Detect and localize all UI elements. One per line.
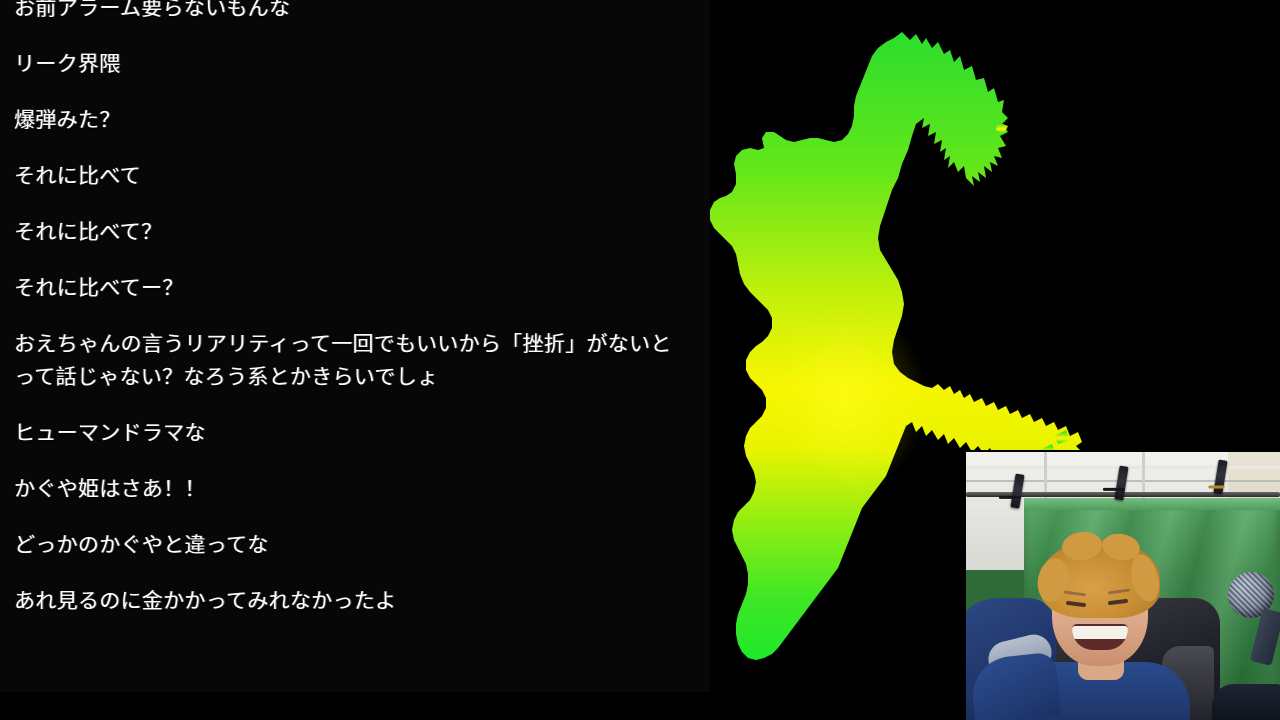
curtain-top-edge [1024,498,1280,510]
chat-panel[interactable]: お前アラーム要らないもんな リーク界隈 爆弾みた？ それに比べて それに比べて？… [0,0,710,692]
chat-message: それに比べてー？ [0,272,710,305]
stream-canvas: お前アラーム要らないもんな リーク界隈 爆弾みた？ それに比べて それに比べて？… [0,0,1280,720]
chat-message: ヒューマンドラマな [0,417,710,450]
chat-message: それに比べて [0,160,710,193]
chat-message: あれ見るのに金かかってみれなかったよ [0,585,710,618]
chat-message: リーク界隈 [0,48,710,81]
chat-message: かぐや姫はさあ！！ [0,473,710,506]
chat-message: お前アラーム要らないもんな [0,0,710,25]
streamer-teeth [1072,626,1128,639]
chat-message: それに比べて？ [0,216,710,249]
webcam-border [966,450,1280,452]
webcam-overlay[interactable] [966,450,1280,720]
chat-message: 爆弾みた？ [0,104,710,137]
chat-message-list[interactable]: お前アラーム要らないもんな リーク界隈 爆弾みた？ それに比べて それに比べて？… [0,0,710,641]
microphone-base [1212,684,1280,720]
chat-message: どっかのかぐやと違ってな [0,529,710,562]
chat-message: おえちゃんの言うリアリティって一回でもいいから「挫折」がないとって話じゃない？な… [0,328,710,394]
